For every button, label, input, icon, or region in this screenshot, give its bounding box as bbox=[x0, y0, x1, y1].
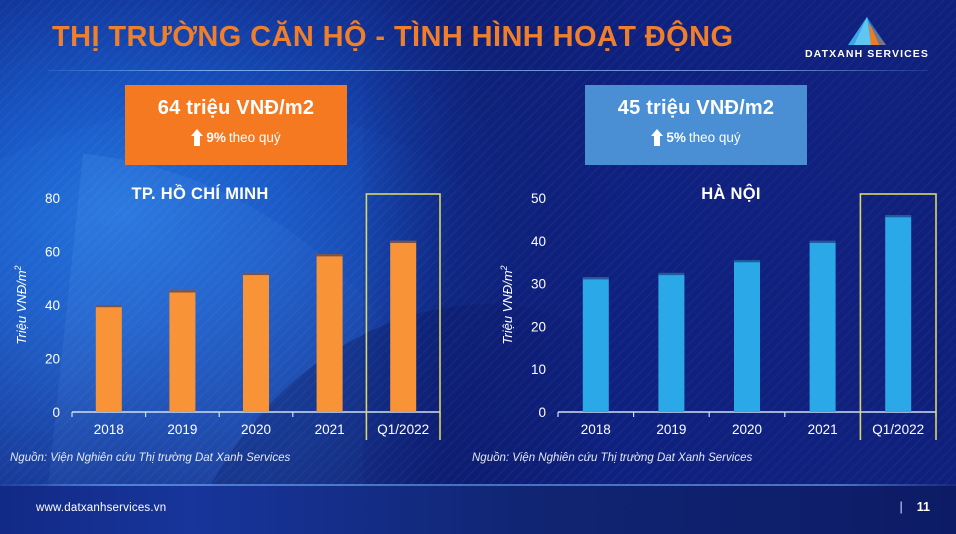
callout-hanoi-period: theo quý bbox=[689, 130, 741, 145]
svg-text:2018: 2018 bbox=[94, 422, 124, 437]
page-title: THỊ TRƯỜNG CĂN HỘ - TÌNH HÌNH HOẠT ĐỘNG bbox=[52, 21, 733, 54]
svg-text:Q1/2022: Q1/2022 bbox=[872, 422, 924, 437]
svg-text:2020: 2020 bbox=[241, 422, 271, 437]
svg-text:0: 0 bbox=[52, 405, 60, 420]
chart-hcm-plot: 020406080Triệu VNĐ/m22018201920202021Q1/… bbox=[0, 180, 460, 440]
callout-hanoi-change: 5% theo quý bbox=[585, 129, 807, 146]
svg-text:2021: 2021 bbox=[808, 422, 838, 437]
svg-text:2021: 2021 bbox=[315, 422, 345, 437]
slide-header: THỊ TRƯỜNG CĂN HỘ - TÌNH HÌNH HOẠT ĐỘNG … bbox=[0, 0, 956, 78]
footer-separator: | bbox=[900, 500, 903, 514]
arrow-up-icon bbox=[651, 129, 663, 146]
arrow-up-icon bbox=[191, 129, 203, 146]
callout-hcm-period: theo quý bbox=[229, 130, 281, 145]
callout-hcm-pct: 9% bbox=[206, 130, 226, 145]
svg-text:2019: 2019 bbox=[167, 422, 197, 437]
callout-hcm: 64 triệu VNĐ/m2 9% theo quý bbox=[125, 85, 347, 165]
svg-text:20: 20 bbox=[531, 319, 546, 334]
footer-page-info: | 11 bbox=[900, 500, 930, 514]
svg-text:Q1/2022: Q1/2022 bbox=[377, 422, 429, 437]
svg-text:Triệu VNĐ/m2: Triệu VNĐ/m2 bbox=[13, 265, 29, 344]
chart-hanoi: HÀ NỘI 01020304050Triệu VNĐ/m22018201920… bbox=[462, 180, 956, 480]
header-divider bbox=[48, 70, 928, 71]
callout-hanoi-pct: 5% bbox=[666, 130, 686, 145]
svg-text:80: 80 bbox=[45, 191, 60, 206]
footer-website-link[interactable]: www.datxanhservices.vn bbox=[36, 502, 166, 514]
brand-logo: DATXANH SERVICES bbox=[802, 16, 932, 68]
svg-text:2018: 2018 bbox=[581, 422, 611, 437]
chart-hanoi-plot: 01020304050Triệu VNĐ/m22018201920202021Q… bbox=[462, 180, 956, 440]
callout-hanoi-value: 45 triệu VNĐ/m2 bbox=[585, 97, 807, 119]
chart-hcm: TP. HỒ CHÍ MINH 020406080Triệu VNĐ/m2201… bbox=[0, 180, 460, 480]
svg-text:40: 40 bbox=[531, 234, 546, 249]
svg-text:20: 20 bbox=[45, 352, 60, 367]
triangle-logo-icon bbox=[847, 16, 887, 46]
callout-hcm-value: 64 triệu VNĐ/m2 bbox=[125, 97, 347, 119]
svg-text:60: 60 bbox=[45, 245, 60, 260]
svg-text:Triệu VNĐ/m2: Triệu VNĐ/m2 bbox=[499, 265, 515, 344]
slide-root: THỊ TRƯỜNG CĂN HỘ - TÌNH HÌNH HOẠT ĐỘNG … bbox=[0, 0, 956, 534]
svg-text:30: 30 bbox=[531, 277, 546, 292]
callout-hcm-change: 9% theo quý bbox=[125, 129, 347, 146]
svg-text:2020: 2020 bbox=[732, 422, 762, 437]
svg-text:10: 10 bbox=[531, 362, 546, 377]
chart-hanoi-source: Nguồn: Viện Nghiên cứu Thị trường Dat Xa… bbox=[472, 452, 752, 464]
callout-hanoi: 45 triệu VNĐ/m2 5% theo quý bbox=[585, 85, 807, 165]
svg-text:40: 40 bbox=[45, 298, 60, 313]
chart-hcm-source: Nguồn: Viện Nghiên cứu Thị trường Dat Xa… bbox=[10, 452, 290, 464]
svg-text:0: 0 bbox=[538, 405, 546, 420]
svg-text:50: 50 bbox=[531, 191, 546, 206]
svg-text:2019: 2019 bbox=[656, 422, 686, 437]
logo-wordmark: DATXANH SERVICES bbox=[802, 48, 932, 60]
page-number: 11 bbox=[917, 500, 930, 514]
slide-footer: www.datxanhservices.vn | 11 bbox=[0, 486, 956, 534]
